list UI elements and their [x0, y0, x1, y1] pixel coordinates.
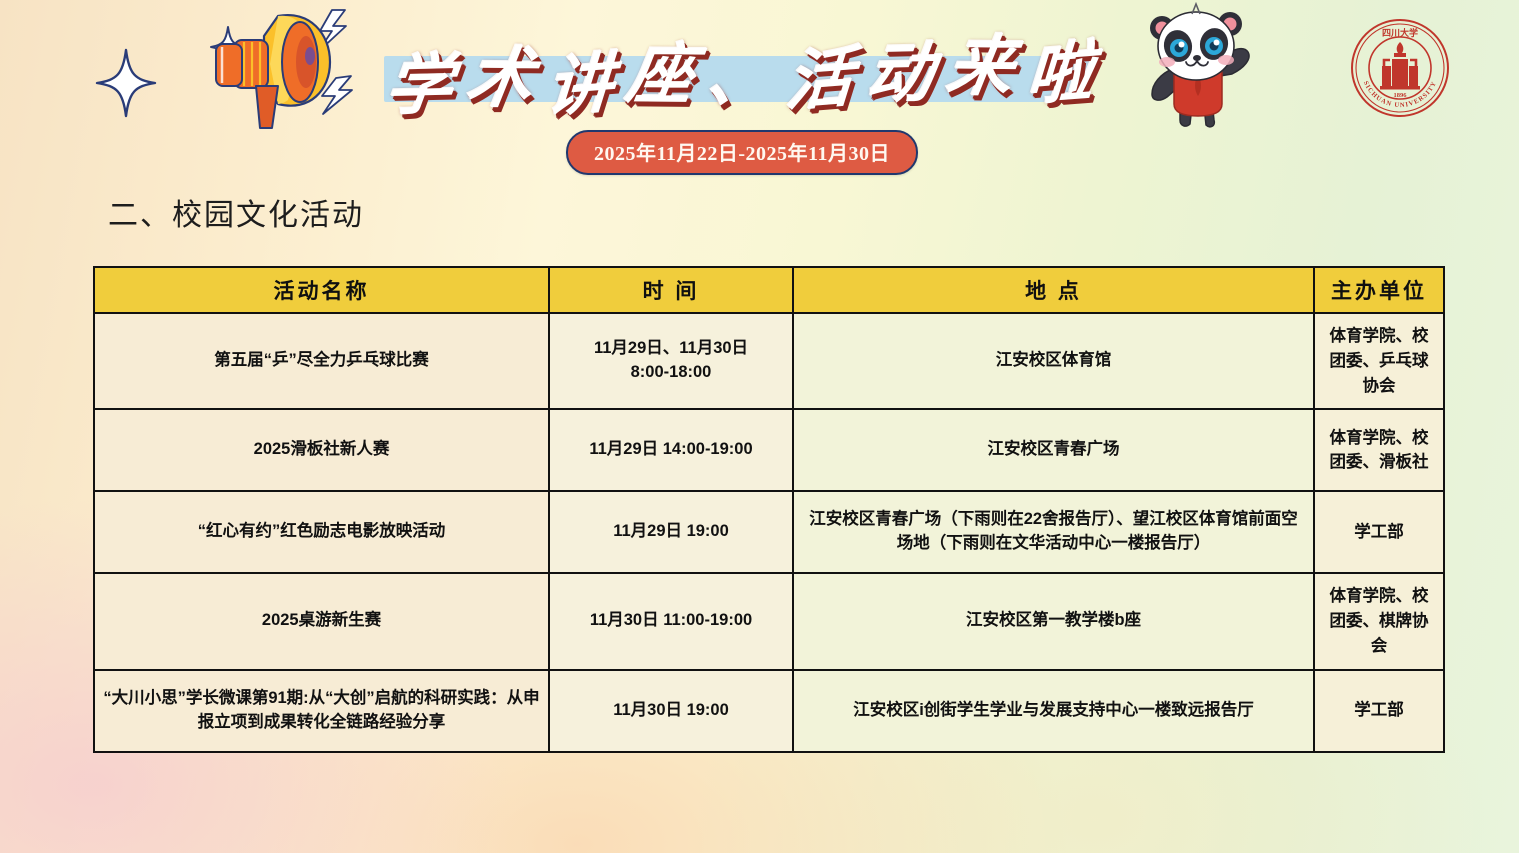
date-range-badge: 2025年11月22日-2025年11月30日: [566, 130, 918, 175]
cell-activity-place: 江安校区体育馆: [793, 313, 1314, 409]
sparkle-star-icon: [95, 48, 157, 118]
cell-activity-org: 学工部: [1314, 670, 1444, 752]
title-char: 动: [862, 19, 940, 117]
title-char: 座: [621, 21, 702, 118]
table-row: 第五届“乒”尽全力乒乓球比赛 11月29日、11月30日 8:00-18:00 …: [94, 313, 1444, 409]
cell-activity-time: 11月30日 19:00: [549, 670, 793, 752]
cell-activity-name: “红心有约”红色励志电影放映活动: [94, 491, 549, 573]
page-title: 学 术 讲 座 、 活 动 来 啦: [381, 14, 1101, 129]
title-char: 术: [461, 25, 542, 122]
cell-activity-org: 体育学院、校团委、乒乓球协会: [1314, 313, 1444, 409]
cell-activity-name: 2025滑板社新人赛: [94, 409, 549, 491]
cell-activity-org: 体育学院、校团委、棋牌协会: [1314, 573, 1444, 669]
table-row: 2025滑板社新人赛 11月29日 14:00-19:00 江安校区青春广场 体…: [94, 409, 1444, 491]
table-row: “红心有约”红色励志电影放映活动 11月29日 19:00 江安校区青春广场（下…: [94, 491, 1444, 573]
title-char: 讲: [543, 29, 617, 130]
table-row: “大川小思”学长微课第91期:从“大创”启航的科研实践：从申报立项到成果转化全链…: [94, 670, 1444, 752]
title-char: 活: [784, 24, 858, 125]
cell-activity-org: 体育学院、校团委、滑板社: [1314, 409, 1444, 491]
logo-year-text: 1896: [1394, 92, 1408, 99]
cell-activity-time: 11月30日 11:00-19:00: [549, 573, 793, 669]
cell-activity-place: 江安校区青春广场: [793, 409, 1314, 491]
activity-table: 活动名称 时 间 地 点 主办单位 第五届“乒”尽全力乒乓球比赛 11月29日、…: [93, 266, 1445, 753]
cell-activity-name: “大川小思”学长微课第91期:从“大创”启航的科研实践：从申报立项到成果转化全链…: [94, 670, 549, 752]
table-header-row: 活动名称 时 间 地 点 主办单位: [94, 267, 1444, 313]
column-header-name: 活动名称: [94, 267, 549, 313]
cell-activity-org: 学工部: [1314, 491, 1444, 573]
sichuan-university-logo: 四川大学 1896 SICHUAN UNIVERSITY: [1348, 16, 1452, 120]
table-row: 2025桌游新生赛 11月30日 11:00-19:00 江安校区第一教学楼b座…: [94, 573, 1444, 669]
panda-mascot-icon: [1140, 2, 1256, 134]
cell-activity-place: 江安校区第一教学楼b座: [793, 573, 1314, 669]
column-header-time: 时 间: [549, 267, 793, 313]
cell-activity-name: 2025桌游新生赛: [94, 573, 549, 669]
megaphone-icon: [160, 4, 380, 134]
cell-activity-place: 江安校区i创街学生学业与发展支持中心一楼致远报告厅: [793, 670, 1314, 752]
column-header-place: 地 点: [793, 267, 1314, 313]
title-char: 学: [381, 31, 459, 129]
cell-activity-time: 11月29日 14:00-19:00: [549, 409, 793, 491]
title-char: 啦: [1024, 18, 1098, 119]
section-heading: 二、校园文化活动: [108, 190, 364, 234]
cell-activity-time: 11月29日 19:00: [549, 491, 793, 573]
title-char: 、: [702, 23, 780, 121]
header-banner: 学 术 讲 座 、 活 动 来 啦 2025年11月22日-2025年11月30…: [0, 0, 1519, 182]
cell-activity-place: 江安校区青春广场（下雨则在22舍报告厅）、望江校区体育馆前面空场地（下雨则在文华…: [793, 491, 1314, 573]
title-char: 来: [941, 13, 1022, 110]
poster-page: 学 术 讲 座 、 活 动 来 啦 2025年11月22日-2025年11月30…: [0, 0, 1519, 853]
column-header-org: 主办单位: [1314, 267, 1444, 313]
cell-activity-name: 第五届“乒”尽全力乒乓球比赛: [94, 313, 549, 409]
cell-activity-time: 11月29日、11月30日 8:00-18:00: [549, 313, 793, 409]
logo-cn-text: 四川大学: [1382, 27, 1418, 38]
